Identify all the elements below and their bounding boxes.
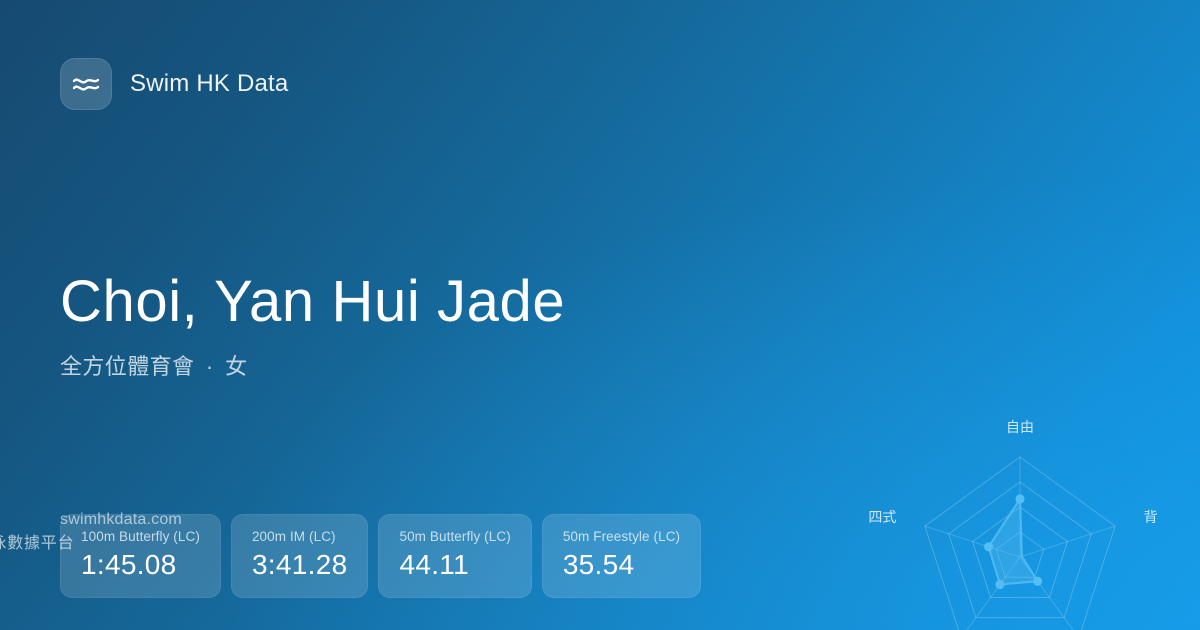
- radar-data-point: [995, 580, 1004, 589]
- radar-data-point: [1015, 494, 1024, 503]
- share-card: Swim HK Data Choi, Yan Hui Jade 全方位體育會 ·…: [0, 0, 1200, 630]
- brand-name: Swim HK Data: [130, 70, 288, 98]
- radar-axis-label: 自由: [1006, 419, 1034, 435]
- athlete-club: 全方位體育會: [60, 354, 194, 379]
- stat-value: 3:41.28: [252, 549, 348, 581]
- footer-tagline: 香港游泳數據平台: [0, 529, 1140, 553]
- brand[interactable]: Swim HK Data: [60, 58, 1200, 110]
- stat-value: 35.54: [563, 549, 680, 581]
- athlete-meta: 全方位體育會 · 女: [60, 349, 720, 381]
- athlete-gender: 女: [225, 354, 247, 379]
- stat-value: 1:45.08: [81, 549, 200, 581]
- footer-site-url[interactable]: swimhkdata.com: [60, 511, 1200, 529]
- logo-tile: [60, 58, 112, 110]
- meta-separator: ·: [206, 354, 214, 379]
- athlete-block: Choi, Yan Hui Jade 全方位體育會 · 女: [60, 270, 720, 381]
- wave-icon: [71, 73, 101, 95]
- radar-data-point: [1033, 577, 1042, 586]
- stat-value: 44.11: [399, 549, 510, 581]
- page-title: Choi, Yan Hui Jade: [60, 270, 720, 335]
